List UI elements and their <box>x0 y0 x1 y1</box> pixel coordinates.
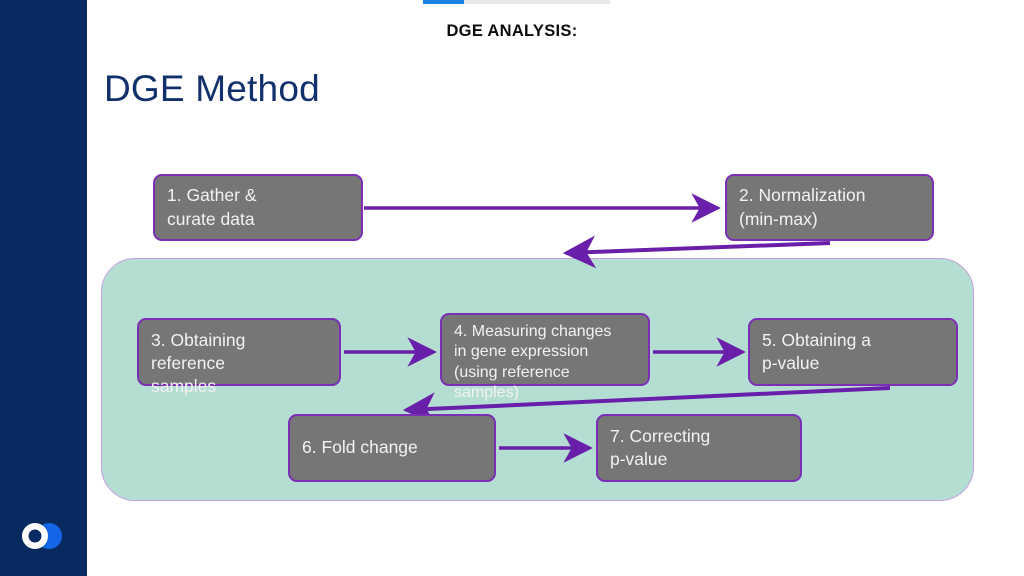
step-box-2-label: 2. Normalization(min-max) <box>739 184 920 230</box>
step-box-7[interactable]: 7. Correctingp-value <box>596 414 802 482</box>
arrow-step2-to-step3 <box>566 243 830 253</box>
step-box-6-label: 6. Fold change <box>302 436 482 459</box>
step-box-7-label: 7. Correctingp-value <box>610 425 788 471</box>
overlapping-circles-logo <box>18 518 68 554</box>
step-box-4[interactable]: 4. Measuring changesin gene expression(u… <box>440 313 650 386</box>
step-box-1[interactable]: 1. Gather &curate data <box>153 174 363 241</box>
step-box-3[interactable]: 3. Obtainingreferencesamples <box>137 318 341 386</box>
dge-analysis-label: DGE ANALYSIS: <box>0 22 1024 41</box>
step-box-5[interactable]: 5. Obtaining ap-value <box>748 318 958 386</box>
page-load-progress-fill <box>423 0 464 4</box>
slide-sidebar <box>0 0 87 576</box>
page-title: DGE Method <box>104 68 320 110</box>
step-box-5-label: 5. Obtaining ap-value <box>762 329 944 375</box>
step-box-2[interactable]: 2. Normalization(min-max) <box>725 174 934 241</box>
page-load-progress-bar <box>423 0 610 4</box>
step-box-6[interactable]: 6. Fold change <box>288 414 496 482</box>
step-box-1-label: 1. Gather &curate data <box>167 184 349 230</box>
